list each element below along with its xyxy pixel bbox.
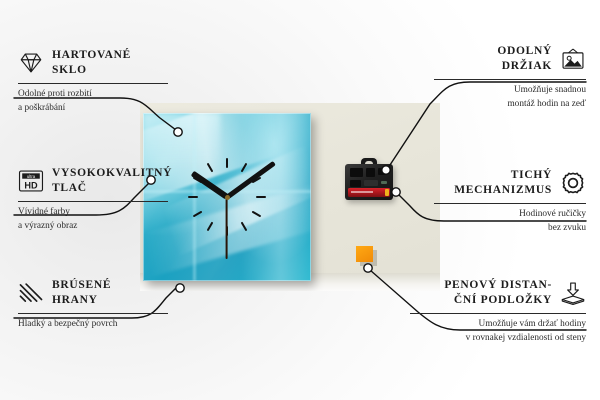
feature-title: TICHÝ MECHANIZMUS: [454, 168, 552, 198]
feature-title: BRÚSENÉ HRANY: [52, 278, 111, 308]
feature-divider: [18, 83, 168, 84]
feature-title: PENOVÝ DISTAN- ČNÍ PODLOŽKY: [444, 278, 552, 308]
feature-description: Umožňuje vám držať hodiny v rovnakej vzd…: [410, 318, 586, 345]
feature-description: Vívidné farby a výrazný obraz: [18, 206, 168, 233]
feature-tempered-glass: HARTOVANÉ SKLO Odolné proti rozbití a po…: [18, 48, 168, 115]
feature-divider: [434, 79, 586, 80]
polished-edges-icon: [18, 280, 44, 306]
feature-divider: [434, 203, 586, 204]
feature-polished-edges: BRÚSENÉ HRANY Hladký a bezpečný povrch: [18, 278, 168, 332]
connector-dot-4: [382, 166, 390, 174]
feature-silent-mechanism: TICHÝ MECHANIZMUS Hodinové ručičky bez z…: [434, 168, 586, 235]
svg-text:ultra: ultra: [27, 174, 36, 179]
feature-divider: [18, 201, 168, 202]
infographic-stage: HARTOVANÉ SKLO Odolné proti rozbití a po…: [0, 0, 600, 400]
feature-description: Hladký a bezpečný povrch: [18, 318, 168, 331]
connector-dot-5: [392, 188, 400, 196]
ultra-hd-icon: ultra HD: [18, 168, 44, 194]
feature-title: HARTOVANÉ SKLO: [52, 48, 131, 78]
wall-hanger-icon: [560, 46, 586, 72]
connector-dot-6: [364, 264, 372, 272]
feature-durable-hanger: ODOLNÝ DRŽIAK Umožňuje snadnou montáž ho…: [434, 44, 586, 111]
svg-text:HD: HD: [24, 180, 38, 190]
feature-foam-spacers: PENOVÝ DISTAN- ČNÍ PODLOŽKY Umožňuje vám…: [410, 278, 586, 345]
feature-hq-print: ultra HD VYSOKOKVALITNÝ TLAČ Vívidné far…: [18, 166, 168, 233]
feature-divider: [18, 313, 168, 314]
feature-title: VYSOKOKVALITNÝ TLAČ: [52, 166, 172, 196]
feature-description: Hodinové ručičky bez zvuku: [434, 208, 586, 235]
feature-title: ODOLNÝ DRŽIAK: [497, 44, 552, 74]
feature-description: Umožňuje snadnou montáž hodin na zeď: [434, 84, 586, 111]
gear-icon: [560, 170, 586, 196]
connector-dot-3: [176, 284, 184, 292]
connector-dot-1: [174, 128, 182, 136]
foam-spacer-icon: [560, 280, 586, 306]
feature-divider: [410, 313, 586, 314]
feature-description: Odolné proti rozbití a poškrábání: [18, 88, 168, 115]
diamond-icon: [18, 50, 44, 76]
